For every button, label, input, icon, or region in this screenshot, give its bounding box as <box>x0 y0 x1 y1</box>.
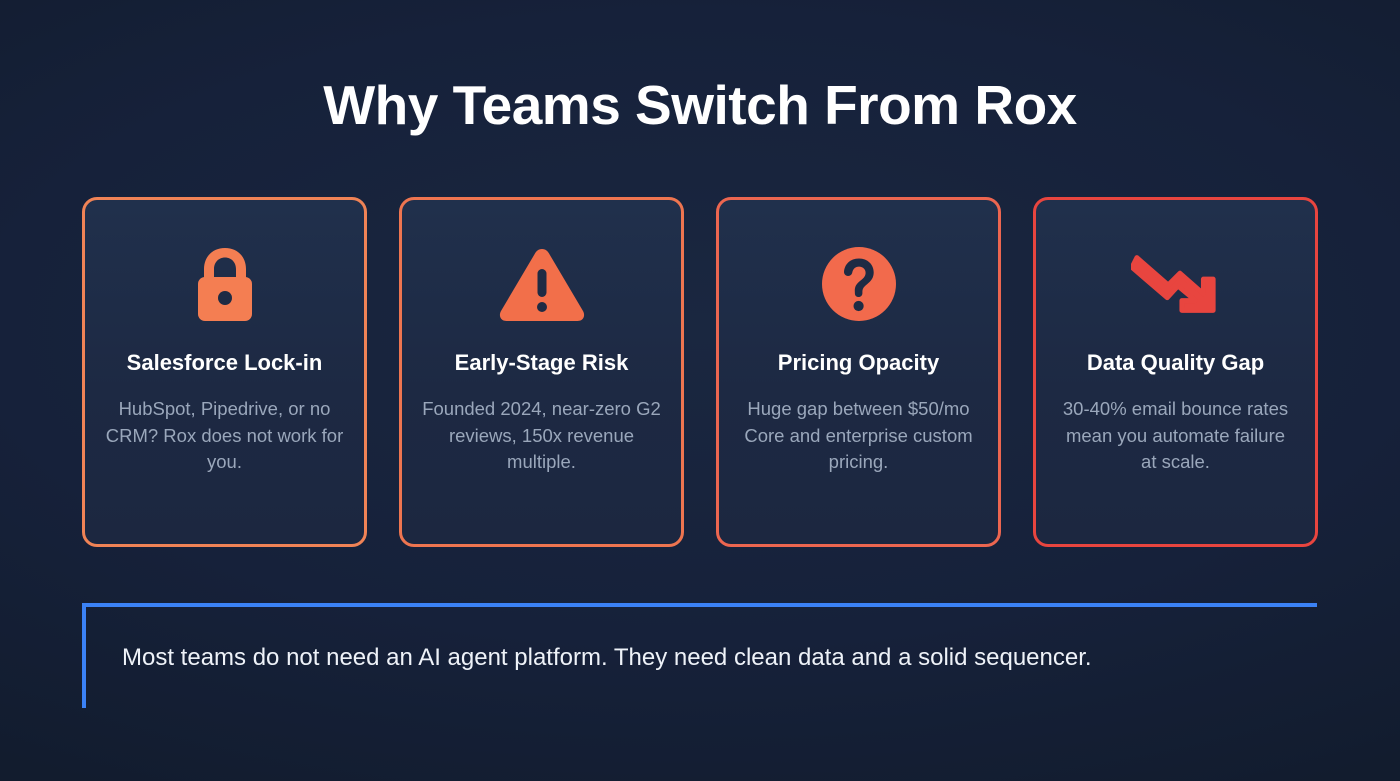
page-title: Why Teams Switch From Rox <box>0 78 1400 133</box>
card-title: Pricing Opacity <box>770 350 947 376</box>
card-title: Early-Stage Risk <box>447 350 637 376</box>
card-pricing-opacity: Pricing Opacity Huge gap between $50/mo … <box>716 197 1001 547</box>
callout-text: Most teams do not need an AI agent platf… <box>86 642 1092 673</box>
card-body: Huge gap between $50/mo Core and enterpr… <box>719 396 998 475</box>
card-early-stage-risk: Early-Stage Risk Founded 2024, near-zero… <box>399 197 684 547</box>
card-body: HubSpot, Pipedrive, or no CRM? Rox does … <box>85 396 364 475</box>
card-data-quality-gap: Data Quality Gap 30-40% email bounce rat… <box>1033 197 1318 547</box>
question-circle-icon <box>814 240 904 328</box>
lock-icon <box>180 240 270 328</box>
callout-quote: Most teams do not need an AI agent platf… <box>82 603 1317 708</box>
card-salesforce-lock-in: Salesforce Lock-in HubSpot, Pipedrive, o… <box>82 197 367 547</box>
card-body: Founded 2024, near-zero G2 reviews, 150x… <box>402 396 681 475</box>
card-title: Data Quality Gap <box>1079 350 1272 376</box>
cards-row: Salesforce Lock-in HubSpot, Pipedrive, o… <box>82 197 1318 547</box>
card-title: Salesforce Lock-in <box>119 350 331 376</box>
warning-triangle-icon <box>497 240 587 328</box>
slide-canvas: Why Teams Switch From Rox Salesforce Loc… <box>0 0 1400 781</box>
card-body: 30-40% email bounce rates mean you autom… <box>1036 396 1315 475</box>
trend-down-arrow-icon <box>1131 240 1221 328</box>
